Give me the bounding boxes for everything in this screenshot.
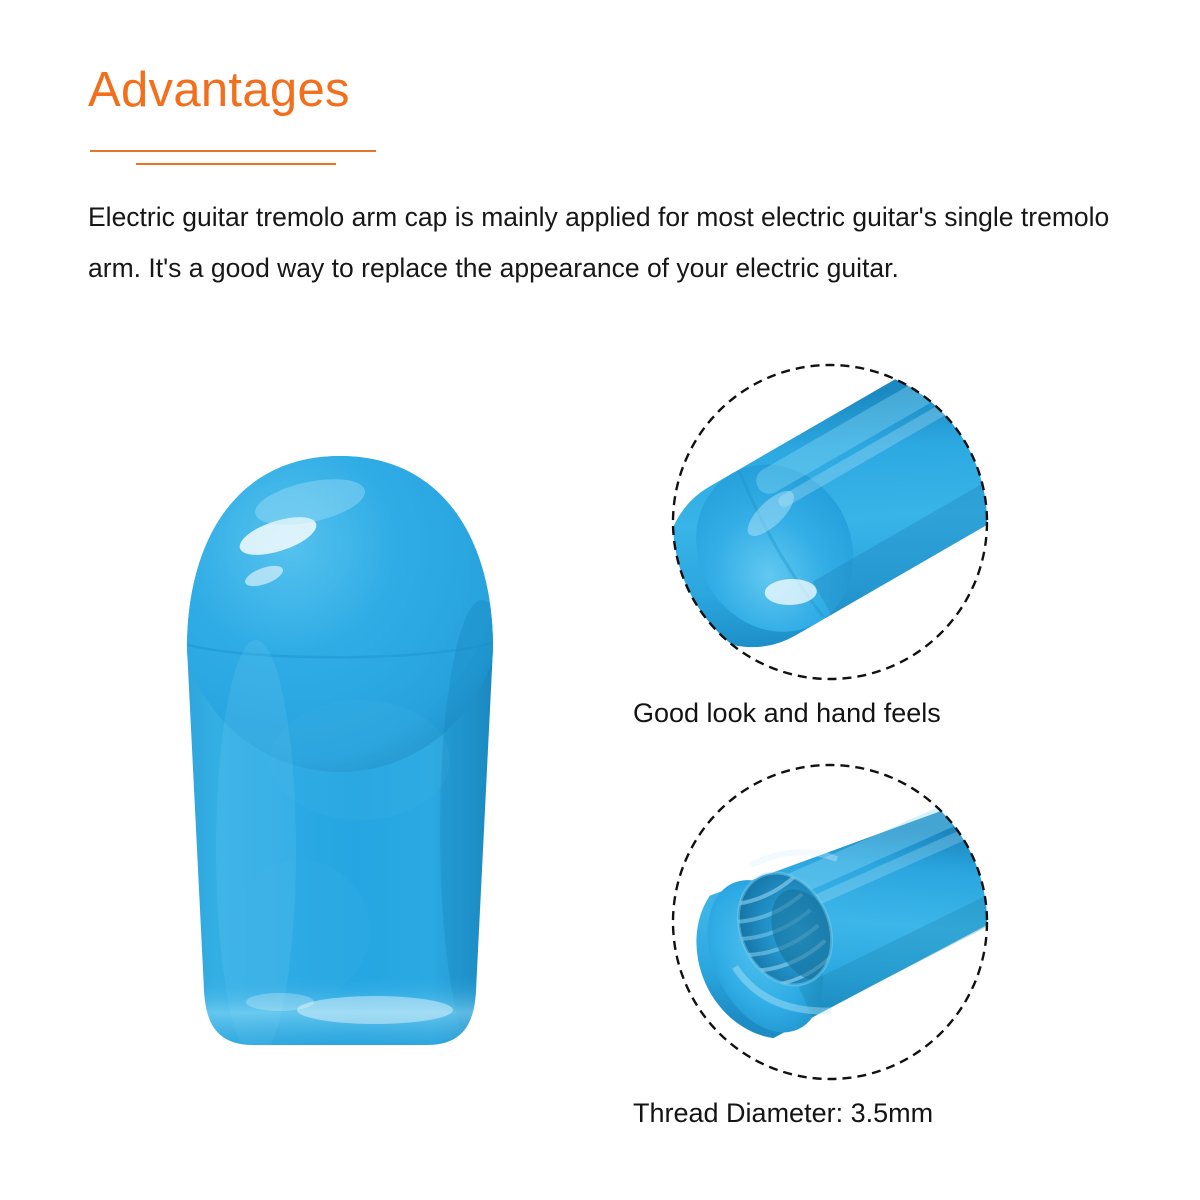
page-title: Advantages — [88, 66, 350, 115]
inset-thread-closeup — [665, 757, 995, 1087]
product-hero-image — [160, 430, 520, 1070]
intro-paragraph: Electric guitar tremolo arm cap is mainl… — [88, 192, 1148, 294]
inset-caption-thread-diameter: Thread Diameter: 3.5mm — [633, 1098, 933, 1129]
title-underline-secondary — [136, 163, 336, 165]
title-underline-primary — [90, 150, 376, 152]
inset-dome-closeup — [665, 357, 995, 687]
inset-caption-good-look: Good look and hand feels — [633, 698, 941, 729]
